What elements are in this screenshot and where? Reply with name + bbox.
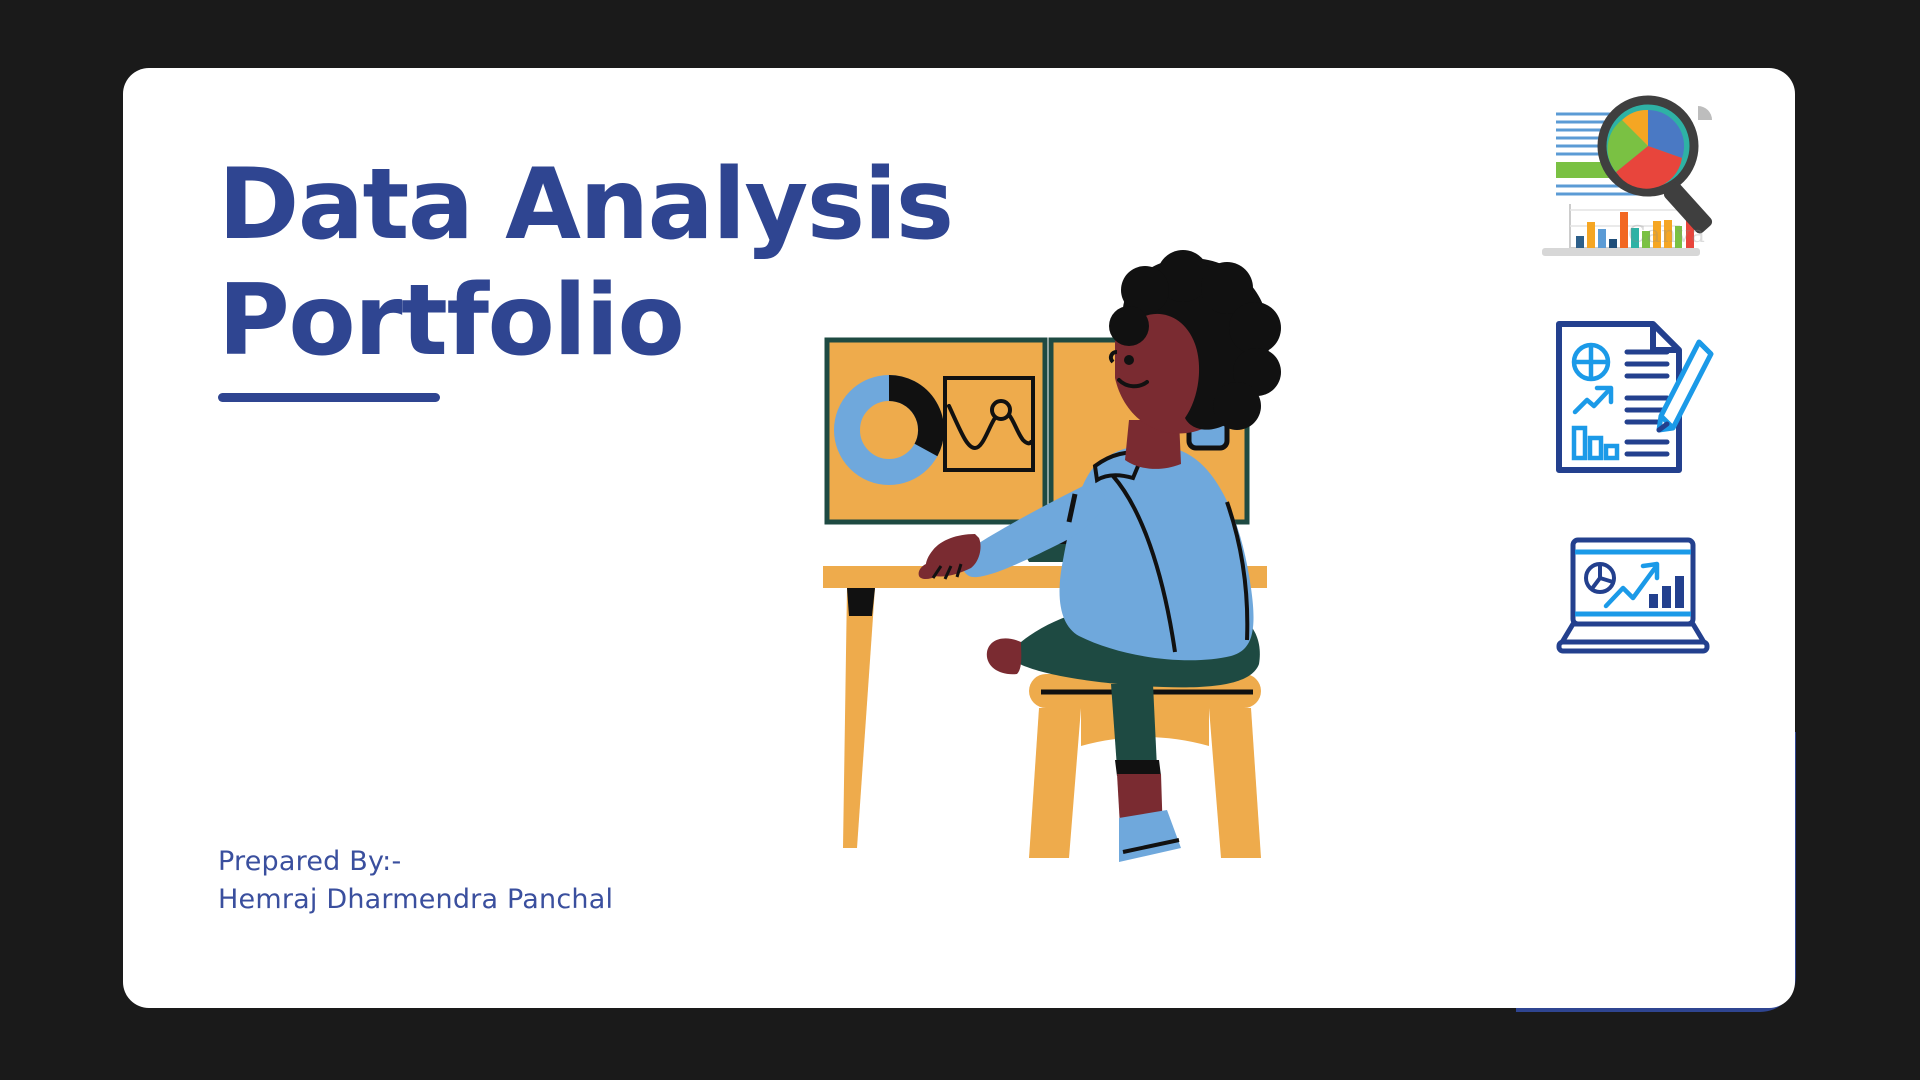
document-pie-icon (1574, 345, 1608, 379)
page-title-line-1: Data Analysis (218, 148, 1038, 264)
magnifier-analytics-icon (1540, 88, 1726, 260)
desk-leg-shadow (847, 588, 875, 616)
slide-root: Data Analysis Portfolio Prepared By:- He… (0, 0, 1920, 1080)
line-chart-data-point (992, 401, 1010, 419)
report-document-pencil-icon (1549, 316, 1717, 478)
magnifier-analytics-svg (1540, 88, 1726, 260)
title-underline (218, 393, 440, 402)
report-base-shadow (1542, 248, 1700, 256)
person-cuff (1115, 760, 1161, 776)
prepared-by-block: Prepared By:- Hemraj Dharmendra Panchal (218, 843, 613, 920)
desk-leg (843, 588, 875, 848)
monitor-left (827, 340, 1045, 522)
prepared-by-label: Prepared By:- (218, 843, 613, 881)
laptop-analytics-svg (1551, 534, 1715, 656)
slide-card: Data Analysis Portfolio Prepared By:- He… (123, 68, 1795, 1008)
person-shoe (1119, 810, 1181, 862)
laptop-front-edge (1559, 642, 1707, 651)
report-document-pencil-svg (1549, 316, 1717, 478)
person-knee (987, 638, 1022, 674)
magnifier-glint (1698, 106, 1712, 120)
analyst-at-desk-svg (823, 248, 1463, 1008)
analyst-at-desk-illustration (823, 248, 1463, 1008)
decorative-icon-column (1533, 88, 1733, 656)
person-calf (1111, 684, 1157, 768)
laptop-analytics-icon (1551, 534, 1715, 656)
author-name: Hemraj Dharmendra Panchal (218, 881, 613, 919)
icon-bar-chart (1570, 204, 1694, 248)
person-eye (1124, 355, 1134, 365)
